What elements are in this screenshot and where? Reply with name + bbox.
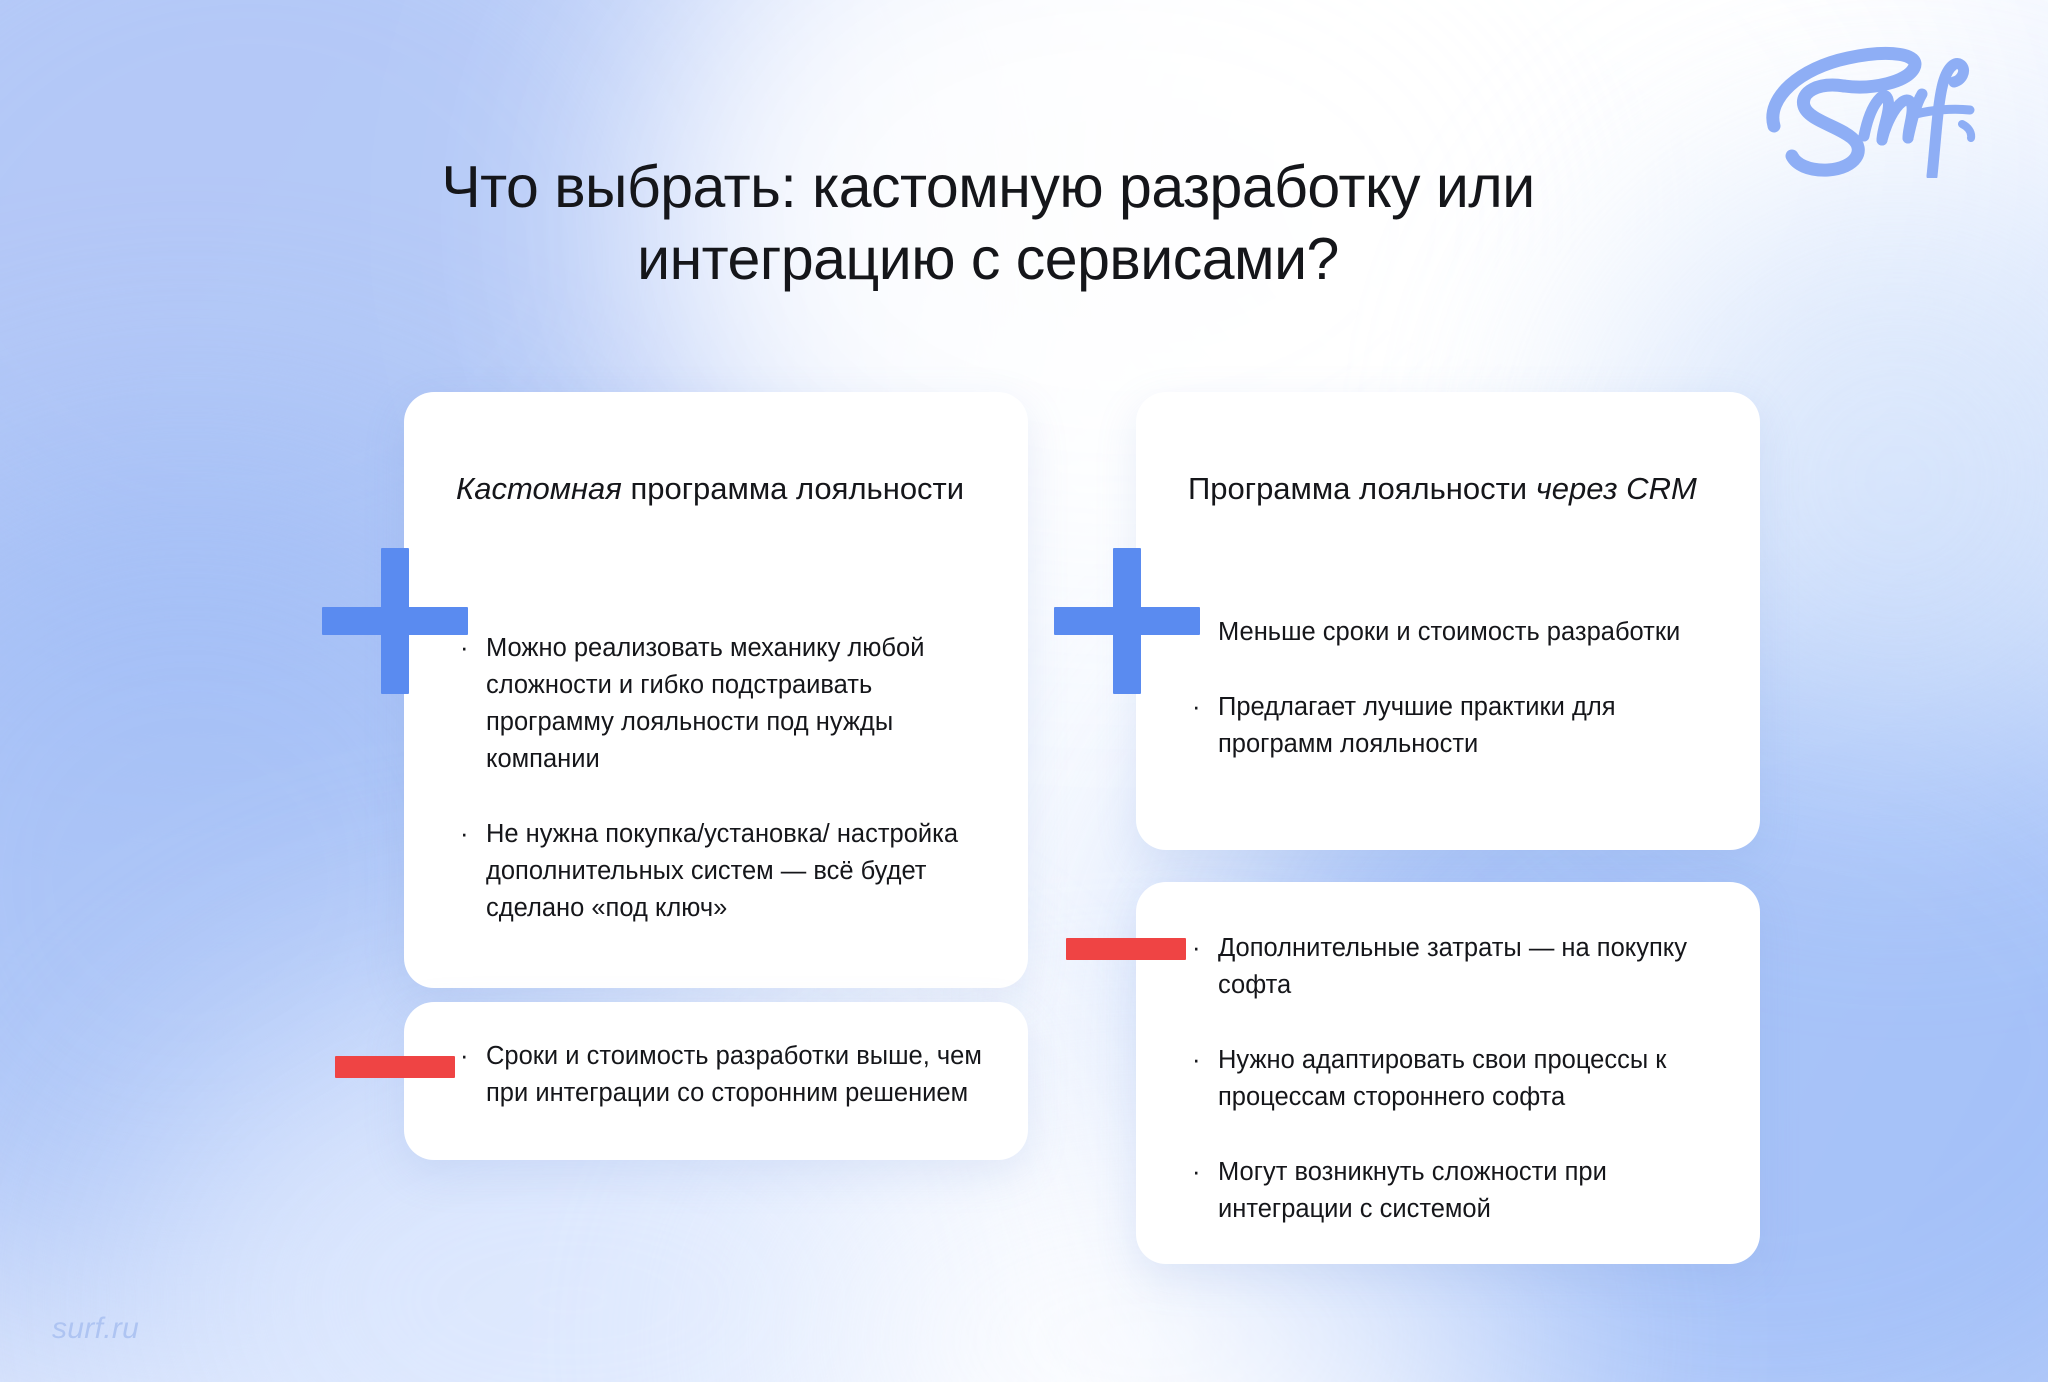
list-item: · Предлагает лучшие практики для програм… — [1188, 689, 1726, 763]
card-crm-pros: Программа лояльности через CRM · Меньше … — [1136, 392, 1760, 850]
plus-icon — [322, 548, 468, 694]
list-item-text: Можно реализовать механику любой сложнос… — [486, 634, 924, 773]
card-custom-heading: Кастомная программа лояльности — [456, 468, 988, 510]
card-custom-cons: · Сроки и стоимость разработки выше, чем… — [404, 1002, 1028, 1160]
bullet-dot-icon: · — [1192, 689, 1201, 726]
card-custom-heading-italic: Кастомная — [456, 471, 622, 506]
card-custom-cons-list: · Сроки и стоимость разработки выше, чем… — [456, 1038, 994, 1112]
card-crm-heading-rest: Программа лояльности — [1188, 471, 1536, 506]
card-custom-heading-rest: программа лояльности — [622, 471, 964, 506]
card-custom-pros-list: · Можно реализовать механику любой сложн… — [456, 630, 994, 927]
card-custom-pros: Кастомная программа лояльности · Можно р… — [404, 392, 1028, 988]
bullet-dot-icon: · — [460, 816, 469, 853]
bullet-dot-icon: · — [460, 1038, 469, 1075]
card-crm-cons: · Дополнительные затраты — на покупку со… — [1136, 882, 1760, 1264]
list-item-text: Сроки и стоимость разработки выше, чем п… — [486, 1042, 982, 1107]
bullet-dot-icon: · — [1192, 1154, 1201, 1191]
site-url-label: surf.ru — [52, 1312, 139, 1346]
card-crm-pros-list: · Меньше сроки и стоимость разработки · … — [1188, 614, 1726, 763]
list-item: · Сроки и стоимость разработки выше, чем… — [456, 1038, 994, 1112]
list-item-text: Могут возникнуть сложности при интеграци… — [1218, 1158, 1607, 1223]
comparison-columns: Кастомная программа лояльности · Можно р… — [0, 0, 2048, 1382]
card-crm-heading-italic: через CRM — [1536, 471, 1697, 506]
list-item: · Не нужна покупка/установка/ настройка … — [456, 816, 994, 927]
list-item: · Могут возникнуть сложности при интегра… — [1188, 1154, 1726, 1228]
list-item-text: Предлагает лучшие практики для программ … — [1218, 693, 1616, 758]
list-item: · Меньше сроки и стоимость разработки — [1188, 614, 1726, 651]
bullet-dot-icon: · — [1192, 1042, 1201, 1079]
minus-icon — [1066, 938, 1186, 960]
list-item: · Дополнительные затраты — на покупку со… — [1188, 930, 1726, 1004]
card-crm-cons-list: · Дополнительные затраты — на покупку со… — [1188, 930, 1726, 1228]
list-item-text: Меньше сроки и стоимость разработки — [1218, 618, 1680, 646]
list-item-text: Нужно адаптировать свои процессы к проце… — [1218, 1046, 1666, 1111]
list-item: · Можно реализовать механику любой сложн… — [456, 630, 994, 778]
list-item-text: Дополнительные затраты — на покупку софт… — [1218, 934, 1687, 999]
slide-canvas: Что выбрать: кастомную разработку или ин… — [0, 0, 2048, 1382]
bullet-dot-icon: · — [1192, 930, 1201, 967]
list-item: · Нужно адаптировать свои процессы к про… — [1188, 1042, 1726, 1116]
list-item-text: Не нужна покупка/установка/ настройка до… — [486, 820, 958, 922]
plus-icon — [1054, 548, 1200, 694]
minus-icon — [335, 1056, 455, 1078]
card-crm-heading: Программа лояльности через CRM — [1188, 468, 1720, 510]
